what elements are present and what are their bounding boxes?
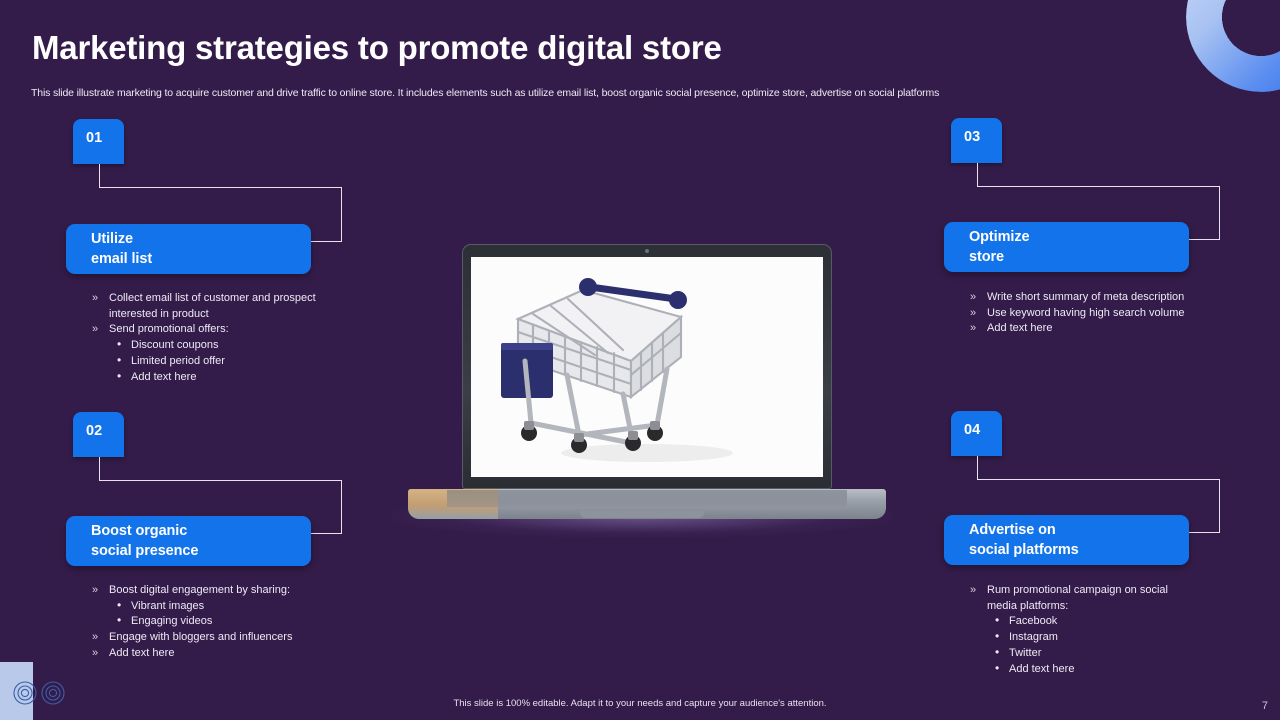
bullet-text: Engage with bloggers and influencers	[109, 631, 292, 643]
laptop-screen	[471, 257, 823, 477]
card-04-title: Advertise on social platforms	[969, 521, 1079, 560]
badge-04[interactable]: 04	[951, 411, 1002, 456]
bullet-marker: »	[92, 646, 98, 662]
bullet-marker: »	[92, 291, 98, 307]
bullets-01: »Collect email list of customer and pros…	[86, 291, 316, 385]
list-item: •Instagram	[987, 630, 1194, 646]
bullet-list-01: »Collect email list of customer and pros…	[86, 291, 316, 385]
bullets-03: »Write short summary of meta description…	[964, 290, 1194, 337]
bullet-text: Vibrant images	[131, 600, 204, 612]
list-item: »Write short summary of meta description	[964, 290, 1194, 306]
list-item: •Limited period offer	[109, 354, 316, 370]
bullets-04: »Rum promotional campaign on social medi…	[964, 583, 1194, 677]
list-item: »Collect email list of customer and pros…	[86, 291, 316, 322]
shopping-cart-icon	[471, 257, 823, 477]
bullet-text: Engaging videos	[131, 615, 212, 627]
card-02[interactable]: Boost organic social presence	[66, 516, 311, 566]
list-item: »Rum promotional campaign on social medi…	[964, 583, 1194, 677]
bullet-marker: •	[995, 661, 999, 677]
bullet-marker: •	[995, 645, 999, 661]
bullet-text: Limited period offer	[131, 355, 225, 367]
bullet-marker: •	[995, 613, 999, 629]
list-item: •Discount coupons	[109, 338, 316, 354]
card-01-title: Utilize email list	[91, 230, 152, 269]
webcam-icon	[645, 249, 649, 253]
bullet-text: Collect email list of customer and prosp…	[109, 292, 316, 320]
bullet-marker: »	[970, 583, 976, 599]
bullet-marker: •	[117, 598, 121, 614]
badge-02-label: 02	[86, 423, 102, 439]
card-01-title-line1: Utilize	[91, 231, 133, 247]
bullet-sublist-04: •Facebook •Instagram •Twitter •Add text …	[987, 614, 1194, 677]
bullet-list-03: »Write short summary of meta description…	[964, 290, 1194, 337]
bullet-text: Twitter	[1009, 647, 1041, 659]
bullet-text: Add text here	[987, 322, 1052, 334]
bullet-text: Add text here	[131, 371, 196, 383]
list-item: »Engage with bloggers and influencers	[86, 630, 316, 646]
card-02-title-line2: social presence	[91, 542, 198, 562]
list-item: •Twitter	[987, 646, 1194, 662]
list-item: »Boost digital engagement by sharing: •V…	[86, 583, 316, 630]
bullet-marker: •	[995, 629, 999, 645]
bullet-sublist-02: •Vibrant images •Engaging videos	[109, 599, 316, 630]
bullet-text: Boost digital engagement by sharing:	[109, 584, 290, 596]
list-item: »Add text here	[86, 646, 316, 662]
bullet-text: Use keyword having high search volume	[987, 307, 1185, 319]
card-04-title-line2: social platforms	[969, 541, 1079, 561]
list-item: •Engaging videos	[109, 614, 316, 630]
bullet-marker: •	[117, 353, 121, 369]
list-item: »Add text here	[964, 321, 1194, 337]
bullet-list-04: »Rum promotional campaign on social medi…	[964, 583, 1194, 677]
bullet-marker: •	[117, 613, 121, 629]
bullet-list-02: »Boost digital engagement by sharing: •V…	[86, 583, 316, 662]
bullet-marker: »	[970, 306, 976, 322]
laptop-illustration	[392, 244, 892, 544]
list-item: •Facebook	[987, 614, 1194, 630]
bullet-marker: »	[92, 630, 98, 646]
card-01-title-line2: email list	[91, 250, 152, 270]
badge-03[interactable]: 03	[951, 118, 1002, 163]
card-01[interactable]: Utilize email list	[66, 224, 311, 274]
bullets-02: »Boost digital engagement by sharing: •V…	[86, 583, 316, 662]
slide-canvas: Marketing strategies to promote digital …	[0, 0, 1280, 720]
card-03-title-line2: store	[969, 248, 1029, 268]
list-item: »Send promotional offers: •Discount coup…	[86, 322, 316, 385]
page-title: Marketing strategies to promote digital …	[32, 29, 722, 67]
bullet-marker: »	[970, 321, 976, 337]
list-item: •Vibrant images	[109, 599, 316, 615]
bullet-marker: »	[92, 583, 98, 599]
list-item: •Add text here	[109, 370, 316, 386]
bullet-marker: •	[117, 337, 121, 353]
card-03[interactable]: Optimize store	[944, 222, 1189, 272]
bullet-text: Facebook	[1009, 615, 1057, 627]
bullet-text: Discount coupons	[131, 339, 218, 351]
laptop-trackpad	[580, 511, 704, 518]
card-03-title-line1: Optimize	[969, 229, 1029, 245]
badge-03-label: 03	[964, 129, 980, 145]
badge-01-label: 01	[86, 130, 102, 146]
bullet-text: Add text here	[109, 647, 174, 659]
corner-panel-decoration	[0, 662, 33, 720]
card-03-title: Optimize store	[969, 228, 1029, 267]
card-02-title: Boost organic social presence	[91, 522, 198, 561]
badge-02[interactable]: 02	[73, 412, 124, 457]
bullet-marker: »	[92, 322, 98, 338]
badge-04-label: 04	[964, 422, 980, 438]
ring-decoration-icon	[1186, 0, 1280, 92]
badge-01[interactable]: 01	[73, 119, 124, 164]
page-subtitle: This slide illustrate marketing to acqui…	[31, 87, 1231, 99]
card-04-title-line1: Advertise on	[969, 522, 1056, 538]
bullet-text: Add text here	[1009, 663, 1074, 675]
footer-note: This slide is 100% editable. Adapt it to…	[0, 698, 1280, 709]
bullet-sublist-01: •Discount coupons •Limited period offer …	[109, 338, 316, 385]
list-item: •Add text here	[987, 662, 1194, 678]
bullet-text: Write short summary of meta description	[987, 291, 1184, 303]
bullet-text: Rum promotional campaign on social media…	[987, 584, 1168, 612]
page-number: 7	[1262, 700, 1268, 712]
laptop-lid	[462, 244, 832, 489]
bullet-marker: »	[970, 290, 976, 306]
list-item: »Use keyword having high search volume	[964, 306, 1194, 322]
bullet-text: Instagram	[1009, 631, 1058, 643]
bullet-text: Send promotional offers:	[109, 323, 229, 335]
bullet-marker: •	[117, 369, 121, 385]
laptop-keyboard	[447, 490, 847, 507]
card-02-title-line1: Boost organic	[91, 523, 187, 539]
card-04[interactable]: Advertise on social platforms	[944, 515, 1189, 565]
